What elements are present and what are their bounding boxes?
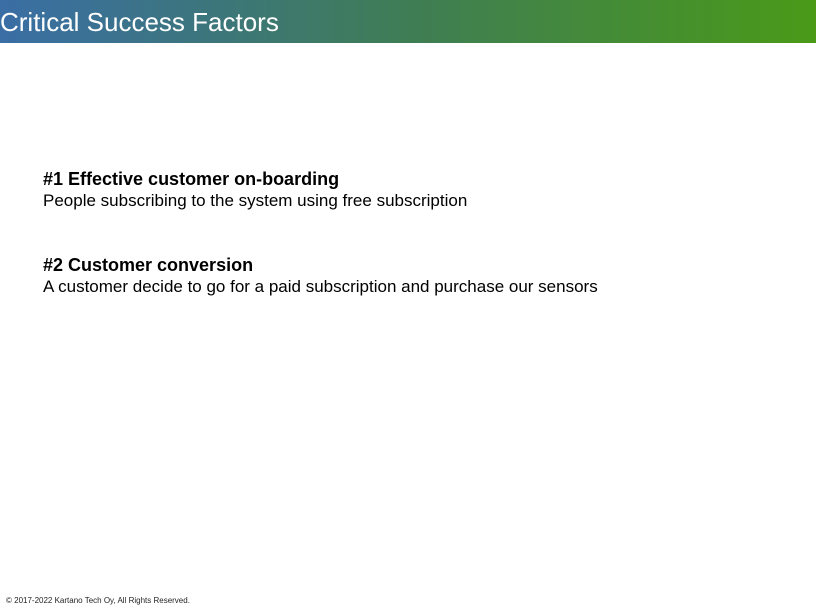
page-title: Critical Success Factors: [0, 5, 279, 39]
success-factor-heading: #1 Effective customer on-boarding: [43, 168, 773, 190]
slide-title-bar: Critical Success Factors: [0, 0, 816, 43]
success-factor-description: People subscribing to the system using f…: [43, 190, 773, 212]
slide-canvas: Critical Success Factors #1 Effective cu…: [0, 0, 816, 613]
slide-content: #1 Effective customer on-boarding People…: [43, 168, 773, 298]
copyright-footer: © 2017-2022 Kartano Tech Oy, All Rights …: [6, 596, 190, 606]
success-factor-block: #2 Customer conversion A customer decide…: [43, 254, 773, 298]
success-factor-description: A customer decide to go for a paid subsc…: [43, 276, 773, 298]
success-factor-heading: #2 Customer conversion: [43, 254, 773, 276]
success-factor-block: #1 Effective customer on-boarding People…: [43, 168, 773, 212]
